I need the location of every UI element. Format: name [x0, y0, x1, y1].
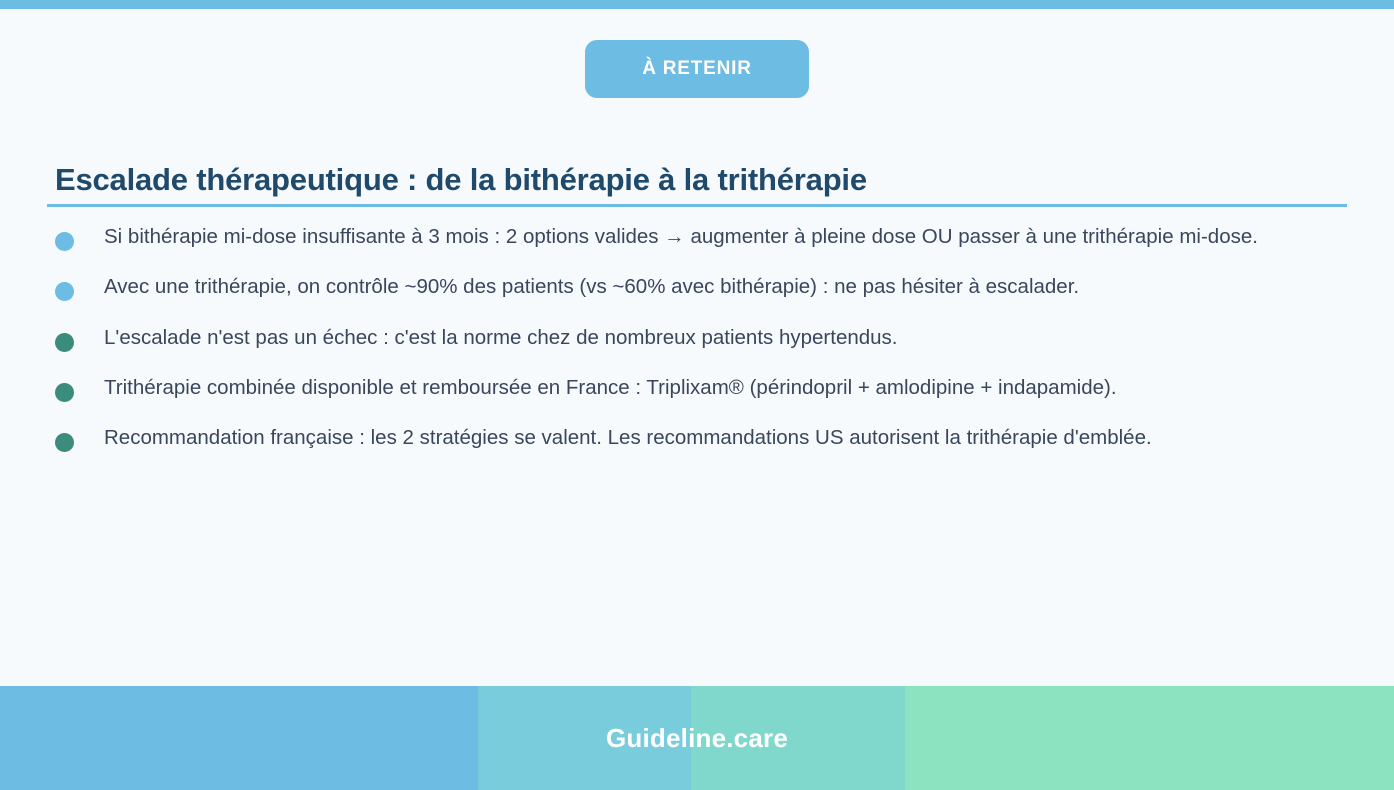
list-item-text: L'escalade n'est pas un échec : c'est la… — [104, 324, 1347, 352]
footer-band-2 — [478, 686, 691, 790]
list-item: Si bithérapie mi-dose insuffisante à 3 m… — [0, 223, 1394, 251]
list-item: Avec une trithérapie, on contrôle ~90% d… — [0, 273, 1394, 301]
list-item: Recommandation française : les 2 stratég… — [0, 424, 1394, 452]
footer-band-3 — [691, 686, 905, 790]
top-accent-bar — [0, 0, 1394, 9]
page-title: Escalade thérapeutique : de la bithérapi… — [55, 161, 1355, 198]
bullet-dot-icon — [55, 383, 74, 402]
footer-band-4 — [905, 686, 1394, 790]
bullet-list: Si bithérapie mi-dose insuffisante à 3 m… — [0, 223, 1394, 474]
slide-canvas: À RETENIR Escalade thérapeutique : de la… — [0, 9, 1394, 686]
list-item-text: Trithérapie combinée disponible et rembo… — [104, 374, 1347, 402]
list-item-text: Recommandation française : les 2 stratég… — [104, 424, 1347, 452]
footer-band-1 — [0, 686, 478, 790]
badge-row: À RETENIR — [0, 40, 1394, 98]
footer-color-bands — [0, 686, 1394, 790]
list-item: Trithérapie combinée disponible et rembo… — [0, 374, 1394, 402]
bullet-dot-icon — [55, 433, 74, 452]
bullet-dot-icon — [55, 333, 74, 352]
list-item-text: Avec une trithérapie, on contrôle ~90% d… — [104, 273, 1347, 301]
list-item-text: Si bithérapie mi-dose insuffisante à 3 m… — [104, 223, 1347, 251]
bullet-dot-icon — [55, 282, 74, 301]
title-divider — [47, 204, 1347, 207]
bullet-dot-icon — [55, 232, 74, 251]
a-retenir-badge: À RETENIR — [585, 40, 809, 98]
list-item: L'escalade n'est pas un échec : c'est la… — [0, 324, 1394, 352]
